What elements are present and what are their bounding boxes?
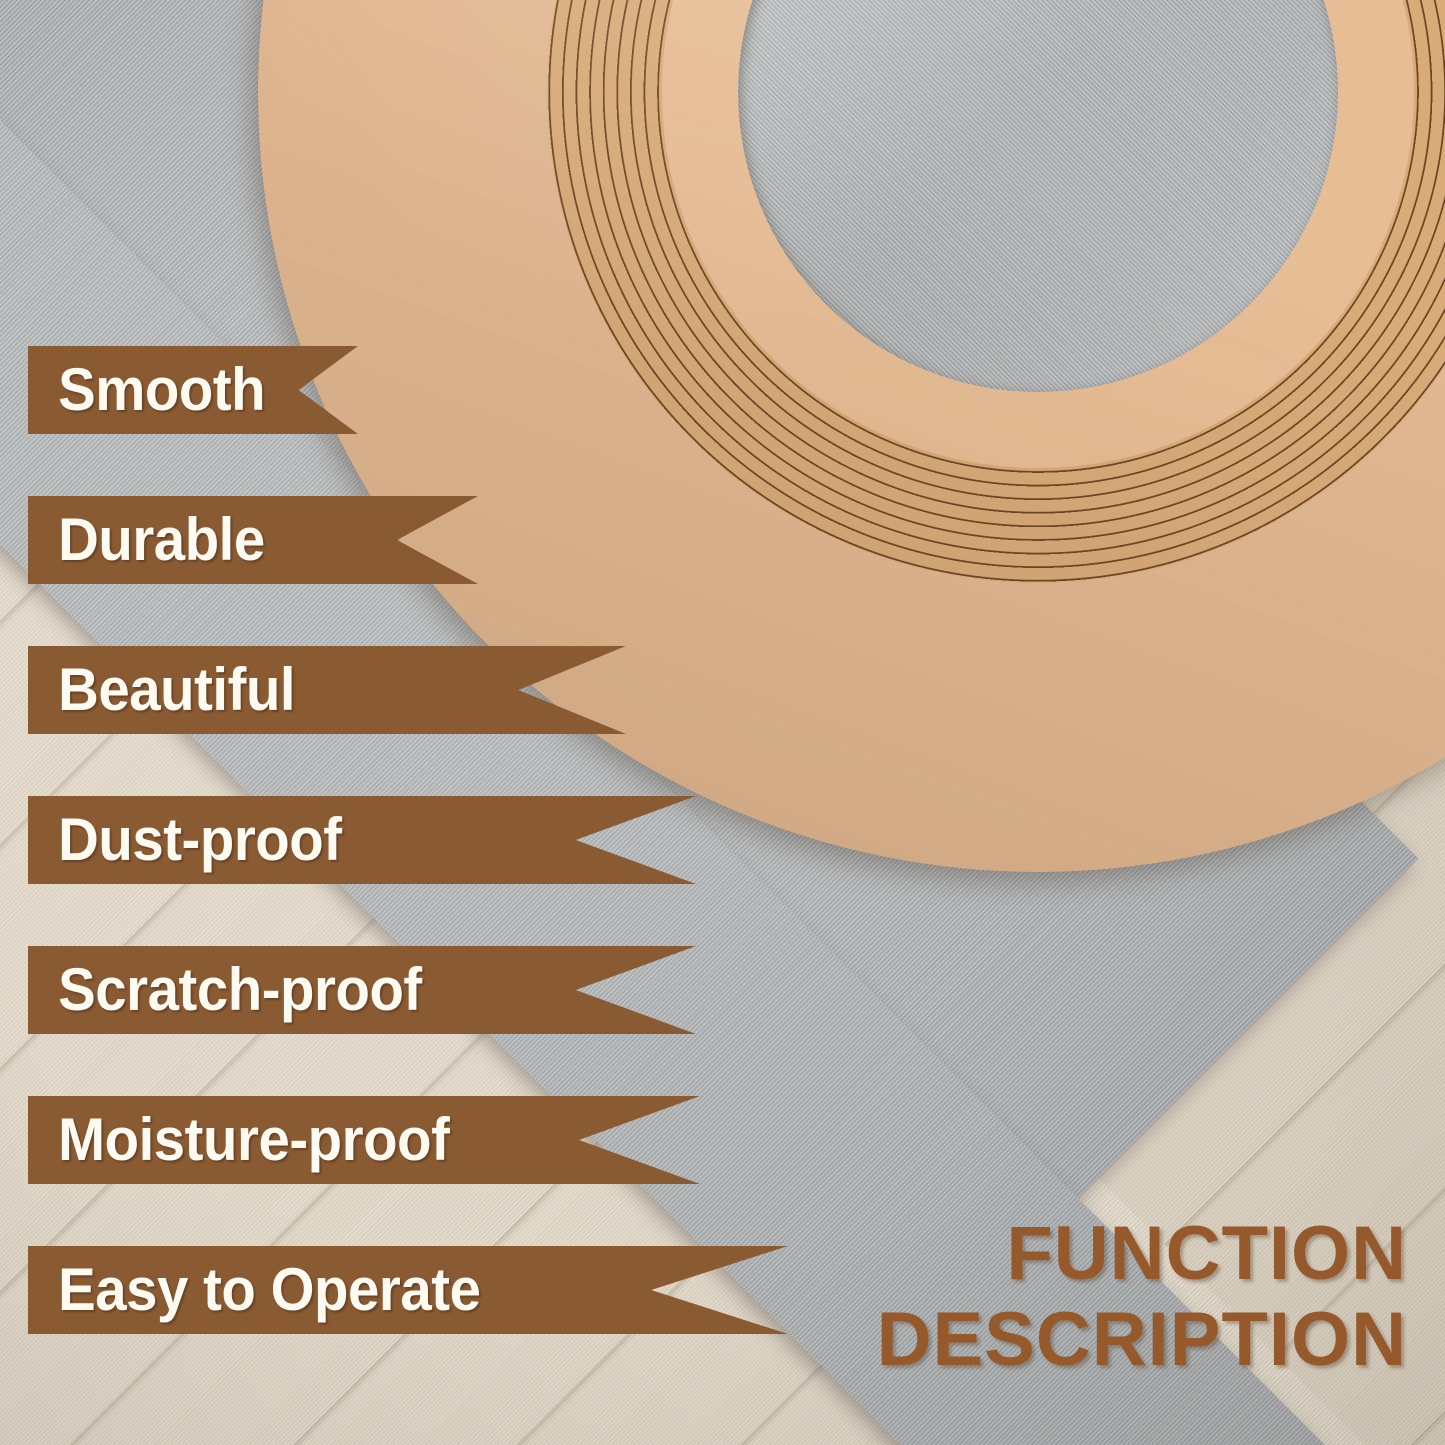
feature-banner-durable: Durable <box>28 496 808 584</box>
feature-banner-easy-to-operate: Easy to Operate <box>28 1246 808 1334</box>
feature-banner-moisture-proof: Moisture-proof <box>28 1096 808 1184</box>
feature-banner-smooth: Smooth <box>28 346 808 434</box>
section-title-line-2: DESCRIPTION <box>877 1297 1407 1383</box>
feature-label: Scratch-proof <box>28 946 422 1034</box>
feature-banner-scratch-proof: Scratch-proof <box>28 946 808 1034</box>
feature-label: Smooth <box>28 346 265 434</box>
product-feature-graphic: Smooth Durable Beautiful Dust-proof Scra… <box>0 0 1445 1445</box>
feature-label: Easy to Operate <box>28 1246 480 1334</box>
feature-label: Durable <box>28 496 265 584</box>
section-title: FUNCTION DESCRIPTION <box>877 1211 1407 1383</box>
feature-banner-beautiful: Beautiful <box>28 646 808 734</box>
section-title-line-1: FUNCTION <box>877 1211 1407 1297</box>
feature-label: Beautiful <box>28 646 295 734</box>
feature-label: Dust-proof <box>28 796 342 884</box>
feature-banner-dust-proof: Dust-proof <box>28 796 808 884</box>
feature-label: Moisture-proof <box>28 1096 449 1184</box>
feature-banner-list: Smooth Durable Beautiful Dust-proof Scra… <box>28 346 808 1334</box>
